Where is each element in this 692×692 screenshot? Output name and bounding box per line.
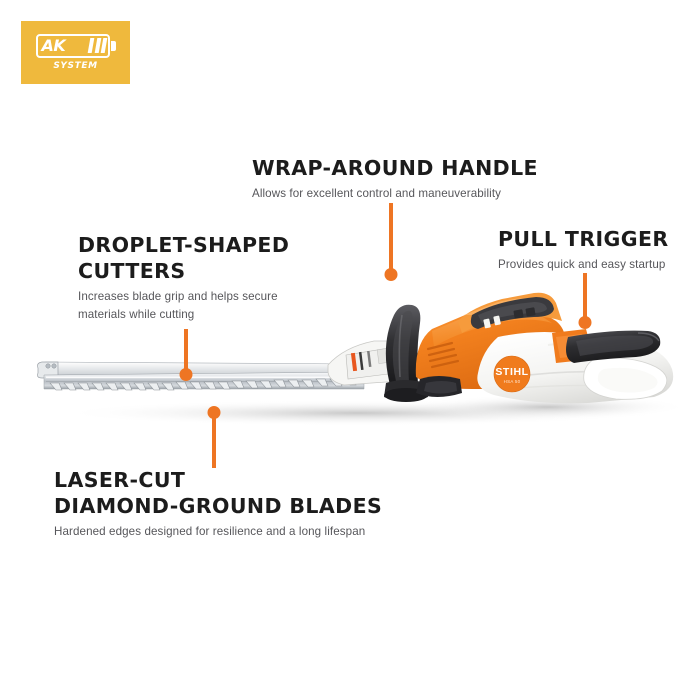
stihl-brand-badge: STIHL HSA 50 <box>494 356 530 392</box>
ak-system-logo-badge: AK SYSTEM <box>21 21 130 84</box>
callout-title: PULL TRIGGER <box>498 226 669 252</box>
pointer-wrap-around-handle <box>384 203 398 283</box>
callout-subtitle: Provides quick and easy startup <box>498 256 669 274</box>
callout-subtitle: Allows for excellent control and maneuve… <box>252 185 538 203</box>
callout-title: DROPLET-SHAPED CUTTERS <box>78 232 289 284</box>
cutter-bar-blade <box>38 362 365 390</box>
pointer-dot <box>180 368 193 381</box>
pointer-stem <box>389 203 393 273</box>
callout-title: WRAP-AROUND HANDLE <box>252 155 538 181</box>
callout-subtitle: Increases blade grip and helps secure ma… <box>78 288 289 324</box>
pointer-stem <box>184 329 188 373</box>
callout-wrap-around-handle: WRAP-AROUND HANDLE Allows for excellent … <box>252 155 538 203</box>
svg-text:HSA 50: HSA 50 <box>504 379 521 384</box>
callout-subtitle: Hardened edges designed for resilience a… <box>54 523 382 541</box>
logo-ak-text: AK <box>42 36 66 55</box>
pointer-laser-cut-blades <box>207 406 221 468</box>
battery-icon: AK <box>36 34 116 58</box>
battery-terminal-shape <box>111 41 116 51</box>
pointer-droplet-shaped-cutters <box>179 329 193 384</box>
battery-bar <box>88 38 95 53</box>
callout-droplet-shaped-cutters: DROPLET-SHAPED CUTTERS Increases blade g… <box>78 232 289 324</box>
callout-laser-cut-diamond-ground-blades: LASER-CUT DIAMOND-GROUND BLADES Hardened… <box>54 467 382 541</box>
callout-pull-trigger: PULL TRIGGER Provides quick and easy sta… <box>498 226 669 274</box>
ak-system-logo-inner: AK SYSTEM <box>35 32 117 73</box>
pointer-dot <box>579 316 592 329</box>
pointer-stem <box>212 414 216 468</box>
battery-charge-bars-icon <box>89 38 106 53</box>
logo-system-text: SYSTEM <box>53 61 97 72</box>
feature-callout-graphic: AK SYSTEM <box>0 0 692 692</box>
gearbox-joint <box>416 376 462 397</box>
pointer-stem <box>583 273 587 321</box>
pointer-pull-trigger <box>578 273 592 333</box>
callout-title: LASER-CUT DIAMOND-GROUND BLADES <box>54 467 382 519</box>
svg-text:STIHL: STIHL <box>495 366 528 378</box>
pointer-dot <box>385 268 398 281</box>
